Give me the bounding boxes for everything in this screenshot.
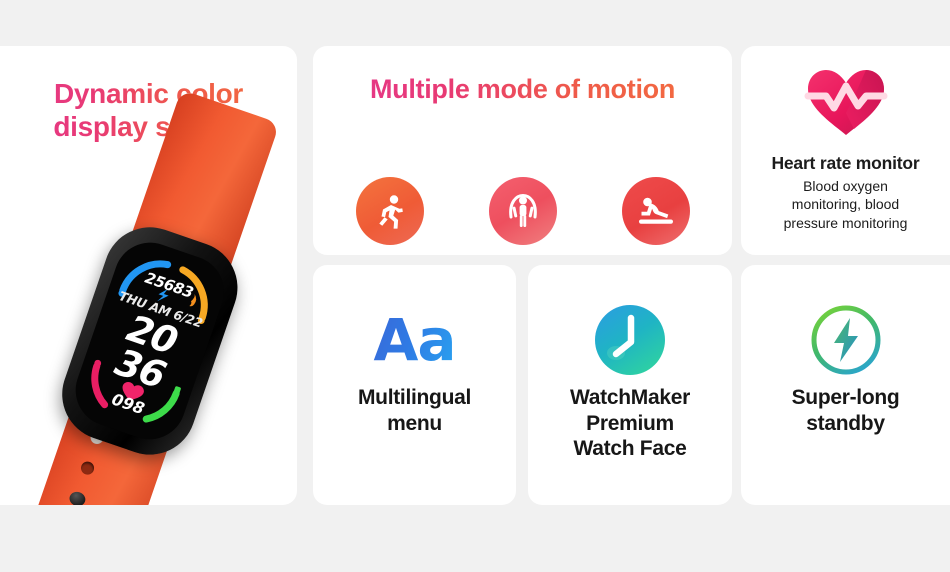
running-icon xyxy=(356,177,424,245)
watchmaker-label: WatchMaker Premium Watch Face xyxy=(528,385,732,462)
heart-pulse-icon xyxy=(741,62,950,145)
motion-icon-row xyxy=(313,177,732,245)
card-multilingual-menu: Aa Multilingual menu xyxy=(313,265,516,505)
watchmaker-label-line-1: WatchMaker xyxy=(536,385,724,411)
card-multiple-motion-modes: Multiple mode of motion xyxy=(313,46,732,255)
clock-icon xyxy=(528,301,732,385)
motion-headline-part-2: of motion xyxy=(548,74,675,104)
card-dynamic-color-display: Dynamic color display screen xyxy=(0,46,297,505)
running-glyph xyxy=(370,191,410,231)
infographic-stage: Dynamic color display screen xyxy=(0,0,950,572)
band-button xyxy=(68,490,88,505)
standby-label-line-2: standby xyxy=(749,411,942,437)
sit-up-glyph xyxy=(634,191,678,231)
lightning-bolt-ring-glyph xyxy=(807,301,885,379)
smart-watch-image: 25683 THU AM 6/22 20 36 098 xyxy=(44,196,274,505)
heart-subtitle-line-1: Blood oxygen xyxy=(751,177,940,195)
watch-display-screen: 25683 THU AM 6/22 20 36 098 xyxy=(66,233,234,449)
motion-headline: Multiple mode of motion xyxy=(313,74,732,106)
jump-rope-icon xyxy=(489,177,557,245)
heart-subtitle-line-3: pressure monitoring xyxy=(751,214,940,232)
card-super-long-standby: Super-long standby xyxy=(741,265,950,505)
lightning-bolt-ring-icon xyxy=(741,301,950,385)
card-watchmaker-premium: WatchMaker Premium Watch Face xyxy=(528,265,732,505)
heart-subtitle-line-2: monitoring, blood xyxy=(751,195,940,213)
multilingual-label: Multilingual menu xyxy=(313,385,516,436)
jump-rope-glyph xyxy=(502,190,544,232)
multilingual-label-line-1: Multilingual xyxy=(321,385,508,411)
clock-glyph xyxy=(591,301,669,379)
heart-rate-title: Heart rate monitor xyxy=(741,153,950,174)
heart-pulse-glyph xyxy=(800,62,892,140)
smart-watch-assembly: 25683 THU AM 6/22 20 36 098 xyxy=(0,181,274,505)
sit-up-icon xyxy=(622,177,690,245)
card-heart-rate-monitor: Heart rate monitor Blood oxygen monitori… xyxy=(741,46,950,255)
watch-body: 25683 THU AM 6/22 20 36 098 xyxy=(50,215,250,467)
headline-line-1: Dynamic color xyxy=(14,78,283,111)
watchmaker-label-line-2: Premium xyxy=(536,411,724,437)
motion-headline-part-1: Multiple mode xyxy=(370,74,548,104)
standby-label-line-1: Super-long xyxy=(749,385,942,411)
watchmaker-label-line-3: Watch Face xyxy=(536,436,724,462)
heart-rate-subtitle: Blood oxygen monitoring, blood pressure … xyxy=(741,177,950,232)
standby-label: Super-long standby xyxy=(741,385,950,436)
band-hole xyxy=(79,460,96,477)
multilingual-label-line-2: menu xyxy=(321,411,508,437)
aa-letters-icon: Aa xyxy=(313,301,516,385)
aa-letters-text: Aa xyxy=(373,306,455,374)
